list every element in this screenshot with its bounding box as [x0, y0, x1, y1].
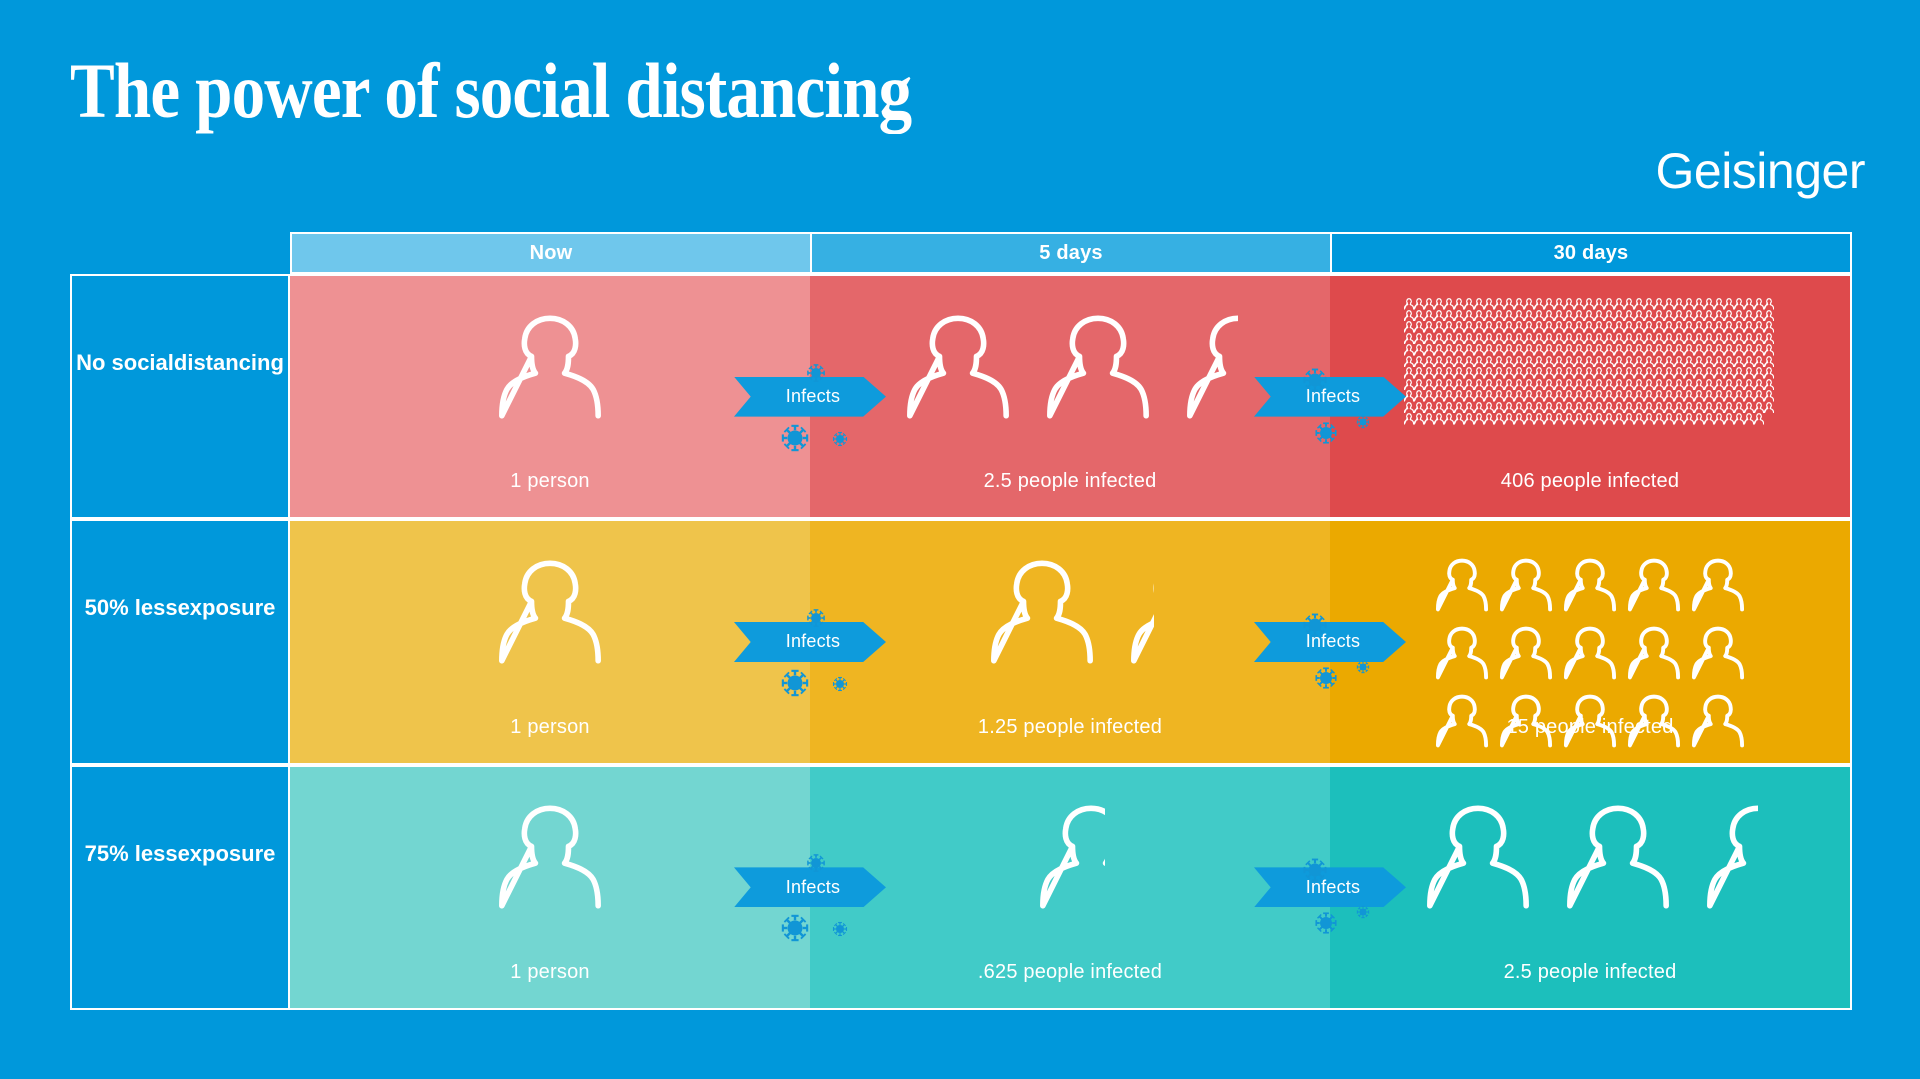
person-icon-tiny — [1544, 390, 1554, 402]
person-figure — [1626, 623, 1682, 683]
person-figure — [1434, 623, 1490, 683]
row-label-line: exposure — [178, 593, 276, 622]
person-icon-tiny — [1604, 367, 1614, 379]
virus-decoration — [832, 431, 848, 452]
person-icon-tiny — [1554, 310, 1564, 322]
person-icon-tiny — [1534, 379, 1544, 391]
person-icon-tiny — [1604, 379, 1614, 391]
person-icon-tiny — [1654, 390, 1664, 402]
person-icon-tiny — [1604, 390, 1614, 402]
person-icon-tiny — [1744, 413, 1754, 425]
person-icon-tiny — [1694, 356, 1704, 368]
person-icon — [1562, 797, 1674, 917]
person-icon-tiny — [1624, 379, 1634, 391]
person-icon-tiny — [1454, 402, 1464, 414]
person-icon-tiny — [1454, 298, 1464, 310]
person-icon-tiny — [1514, 379, 1524, 391]
person-icon-tiny — [1764, 367, 1774, 379]
person-icon-tiny — [1414, 344, 1424, 356]
person-icon-tiny — [1434, 367, 1444, 379]
person-icon-tiny — [1624, 402, 1634, 414]
person-icon-tiny — [1464, 367, 1474, 379]
grid-header-row: Now 5 days 30 days — [290, 232, 1852, 274]
person-icon-tiny — [1714, 310, 1724, 322]
person-icon-tiny — [1534, 367, 1544, 379]
person-icon-tiny — [1584, 344, 1594, 356]
virus-decoration — [1356, 905, 1370, 924]
person-figure — [1498, 623, 1554, 683]
person-icon — [494, 307, 606, 427]
person-icon-tiny — [1424, 367, 1434, 379]
person-icon-tiny — [1454, 379, 1464, 391]
person-icon-tiny — [1704, 310, 1714, 322]
person-icon-tiny — [1544, 333, 1554, 345]
person-icon-tiny — [1464, 356, 1474, 368]
person-icon-tiny — [1674, 344, 1684, 356]
person-icon-tiny — [1564, 298, 1574, 310]
person-icon-tiny — [1504, 379, 1514, 391]
person-icon-tiny — [1434, 344, 1444, 356]
person-icon-tiny — [1624, 390, 1634, 402]
person-icon-tiny — [1604, 402, 1614, 414]
person-icon-tiny — [1754, 344, 1764, 356]
person-icon-tiny — [1714, 413, 1724, 425]
person-icon-tiny — [1744, 379, 1754, 391]
cell-caption: 1.25 people infected — [810, 716, 1330, 739]
person-icon-tiny — [1554, 298, 1564, 310]
cell-caption: 1 person — [290, 470, 810, 493]
virus-icon — [1302, 367, 1328, 393]
person-icon-tiny — [1524, 379, 1534, 391]
row-label-line: distancing — [174, 348, 284, 377]
person-icon-tiny — [1644, 402, 1654, 414]
person-icon-tiny — [1414, 379, 1424, 391]
person-icon-tiny — [1624, 333, 1634, 345]
person-icon-tiny — [1734, 310, 1744, 322]
person-icon-tiny — [1594, 413, 1604, 425]
person-icon-tiny — [1704, 356, 1714, 368]
person-icon-tiny — [1464, 379, 1474, 391]
people-group — [810, 276, 1330, 457]
person-icon-tiny — [1464, 402, 1474, 414]
person-icon-tiny — [1664, 402, 1674, 414]
person-icon — [494, 552, 606, 672]
person-icon-tiny — [1504, 344, 1514, 356]
cell-caption: 1 person — [290, 716, 810, 739]
person-icon-tiny — [1764, 298, 1774, 310]
person-icon-tiny — [1484, 321, 1494, 333]
person-icon-tiny — [1654, 413, 1664, 425]
person-icon-tiny — [1454, 321, 1464, 333]
person-icon-tiny — [1734, 298, 1744, 310]
person-icon-tiny — [1444, 367, 1454, 379]
person-icon-tiny — [1634, 402, 1644, 414]
person-icon-tiny — [1474, 402, 1484, 414]
person-icon-tiny — [1434, 333, 1444, 345]
person-icon-tiny — [1724, 298, 1734, 310]
person-icon-tiny — [1694, 367, 1704, 379]
cell-1-2: 15 people infected — [1330, 521, 1850, 762]
person-icon-tiny — [1554, 413, 1564, 425]
person-icon-tiny — [1724, 333, 1734, 345]
person-icon-tiny — [1694, 333, 1704, 345]
person-icon-tiny — [1734, 379, 1744, 391]
person-icon-tiny — [1444, 356, 1454, 368]
person-icon-tiny — [1594, 379, 1604, 391]
infographic-canvas: The power of social distancing Geisinger… — [0, 0, 1920, 1079]
virus-decoration — [780, 668, 810, 703]
person-icon-tiny — [1684, 298, 1694, 310]
person-icon-tiny — [1454, 390, 1464, 402]
person-icon-tiny — [1444, 333, 1454, 345]
person-icon-tiny — [1654, 402, 1664, 414]
person-icon-tiny — [1644, 333, 1654, 345]
person-figure-partial — [1702, 797, 1758, 917]
virus-icon — [780, 668, 810, 698]
person-icon-tiny — [1434, 310, 1444, 322]
person-icon-tiny — [1624, 367, 1634, 379]
virus-icon — [832, 676, 848, 692]
person-icon-tiny — [1654, 356, 1664, 368]
person-icon-tiny — [1494, 390, 1504, 402]
person-icon-tiny — [1514, 298, 1524, 310]
person-icon-tiny — [1534, 413, 1544, 425]
person-icon-tiny — [1634, 413, 1644, 425]
person-icon-tiny — [1564, 402, 1574, 414]
person-icon-tiny — [1734, 402, 1744, 414]
person-icon-tiny — [1434, 402, 1444, 414]
person-icon — [1702, 797, 1758, 917]
person-icon-tiny — [1674, 413, 1684, 425]
person-icon-tiny — [1724, 356, 1734, 368]
person-icon-tiny — [1604, 413, 1614, 425]
virus-icon — [1356, 905, 1370, 919]
person-figure — [1562, 623, 1618, 683]
person-icon-tiny — [1564, 356, 1574, 368]
scenario-row: 75% lessexposure 1 person .625 people in… — [70, 765, 1852, 1010]
person-icon-tiny — [1614, 402, 1624, 414]
person-icon-tiny — [1434, 413, 1444, 425]
column-header-30-days: 30 days — [1330, 232, 1852, 274]
person-icon-tiny — [1574, 390, 1584, 402]
person-icon-tiny — [1674, 333, 1684, 345]
person-icon-tiny — [1584, 310, 1594, 322]
person-icon-tiny — [1484, 413, 1494, 425]
person-icon — [1035, 797, 1105, 917]
person-icon-tiny — [1524, 321, 1534, 333]
person-icon-tiny — [1664, 356, 1674, 368]
person-icon-tiny — [1554, 367, 1564, 379]
person-icon-tiny — [1524, 310, 1534, 322]
person-icon-tiny — [1764, 310, 1774, 322]
person-icon-tiny — [1584, 321, 1594, 333]
person-icon-tiny — [1544, 321, 1554, 333]
person-icon-tiny — [1654, 321, 1664, 333]
person-icon-tiny — [1654, 367, 1664, 379]
arrow-label: Infects — [1254, 867, 1406, 907]
person-icon-tiny — [1554, 402, 1564, 414]
person-icon-tiny — [1744, 402, 1754, 414]
cell-0-2: 406 people infected — [1330, 276, 1850, 517]
person-icon-tiny — [1624, 321, 1634, 333]
cell-caption: 1 person — [290, 961, 810, 984]
person-icon-tiny — [1744, 310, 1754, 322]
person-icon-tiny — [1654, 333, 1664, 345]
person-icon-tiny — [1524, 390, 1534, 402]
person-icon-tiny — [1464, 298, 1474, 310]
virus-icon — [806, 363, 826, 383]
person-icon-tiny — [1684, 379, 1694, 391]
person-icon-tiny — [1684, 310, 1694, 322]
person-icon-tiny — [1434, 356, 1444, 368]
person-icon-tiny — [1424, 390, 1434, 402]
person-icon-tiny — [1614, 413, 1624, 425]
person-figure — [1422, 797, 1534, 917]
comparison-grid: Now 5 days 30 days No socialdistancing 1… — [70, 232, 1852, 1010]
person-icon-tiny — [1544, 356, 1554, 368]
person-icon-tiny — [1534, 402, 1544, 414]
people-group — [290, 521, 810, 702]
person-icon-tiny — [1684, 390, 1694, 402]
person-figure — [1562, 797, 1674, 917]
person-icon-tiny — [1724, 367, 1734, 379]
cell-caption: 2.5 people infected — [810, 470, 1330, 493]
person-icon-tiny — [1764, 321, 1774, 333]
person-icon-tiny — [1504, 321, 1514, 333]
person-icon-tiny — [1554, 321, 1564, 333]
person-icon-tiny — [1404, 356, 1414, 368]
person-icon-tiny — [1504, 402, 1514, 414]
person-icon-tiny — [1424, 298, 1434, 310]
person-icon-tiny — [1494, 344, 1504, 356]
person-icon-tiny — [1754, 356, 1764, 368]
person-icon-tiny — [1624, 356, 1634, 368]
person-icon-tiny — [1464, 310, 1474, 322]
person-icon-tiny — [1664, 379, 1674, 391]
person-icon-tiny — [1694, 379, 1704, 391]
person-icon-tiny — [1704, 402, 1714, 414]
person-icon-tiny — [1724, 379, 1734, 391]
person-icon-tiny — [1714, 402, 1724, 414]
person-icon-tiny — [1674, 356, 1684, 368]
person-icon-tiny — [1574, 379, 1584, 391]
person-icon-tiny — [1574, 402, 1584, 414]
infects-arrow-2: Infects — [1254, 867, 1406, 907]
person-icon-tiny — [1454, 367, 1464, 379]
person-icon-tiny — [1494, 379, 1504, 391]
person-icon-tiny — [1704, 298, 1714, 310]
brand-logo: Geisinger — [1656, 145, 1866, 197]
person-icon-tiny — [1434, 379, 1444, 391]
person-icon-tiny — [1544, 413, 1554, 425]
person-icon-tiny — [1624, 413, 1634, 425]
person-icon-tiny — [1694, 390, 1704, 402]
person-icon-tiny — [1454, 413, 1464, 425]
virus-decoration — [780, 913, 810, 948]
person-icon-tiny — [1494, 298, 1504, 310]
person-icon-tiny — [1514, 390, 1524, 402]
person-figure — [902, 307, 1014, 427]
person-icon-tiny — [1524, 367, 1534, 379]
person-icon-tiny — [1414, 402, 1424, 414]
person-icon-tiny — [1694, 321, 1704, 333]
virus-icon — [832, 921, 848, 937]
person-icon-tiny — [1744, 321, 1754, 333]
person-icon-tiny — [1744, 356, 1754, 368]
person-icon-tiny — [1554, 379, 1564, 391]
person-figure — [986, 552, 1098, 672]
person-icon-tiny — [1494, 402, 1504, 414]
person-icon-tiny — [1754, 298, 1764, 310]
person-icon-tiny — [1714, 321, 1724, 333]
person-icon-tiny — [1714, 344, 1724, 356]
person-icon-tiny — [1694, 413, 1704, 425]
person-icon-tiny — [1584, 333, 1594, 345]
cell-1-1: 1.25 people infected — [810, 521, 1330, 762]
person-icon-tiny — [1754, 402, 1764, 414]
person-icon-tiny — [1494, 321, 1504, 333]
person-icon-tiny — [1484, 344, 1494, 356]
person-icon-tiny — [1544, 367, 1554, 379]
virus-decoration — [780, 423, 810, 458]
person-icon-tiny — [1544, 310, 1554, 322]
person-icon-tiny — [1664, 344, 1674, 356]
person-icon-tiny — [1424, 310, 1434, 322]
row-label-line: 50% less — [85, 593, 178, 622]
person-icon-tiny — [1604, 356, 1614, 368]
person-icon-tiny — [1524, 402, 1534, 414]
person-icon — [1422, 797, 1534, 917]
virus-icon — [1302, 612, 1328, 638]
person-icon-tiny — [1574, 367, 1584, 379]
person-icon-tiny — [1444, 310, 1454, 322]
person-icon-tiny — [1594, 367, 1604, 379]
person-icon-tiny — [1484, 367, 1494, 379]
person-icon-tiny — [1604, 333, 1614, 345]
row-label-1: 50% lessexposure — [70, 519, 290, 764]
person-icon-tiny — [1534, 321, 1544, 333]
infects-arrow-2: Infects — [1254, 622, 1406, 662]
person-icon-tiny — [1754, 367, 1764, 379]
person-icon-tiny — [1704, 344, 1714, 356]
person-icon-tiny — [1474, 321, 1484, 333]
person-icon-tiny — [1414, 390, 1424, 402]
virus-icon — [780, 913, 810, 943]
person-icon-tiny — [1644, 413, 1654, 425]
arrow-label: Infects — [1254, 622, 1406, 662]
person-icon-tiny — [1614, 310, 1624, 322]
person-icon-tiny — [1414, 333, 1424, 345]
row-body: 1 person 1.25 people infected — [288, 519, 1852, 764]
person-icon-tiny — [1444, 390, 1454, 402]
person-icon-tiny — [1644, 344, 1654, 356]
person-icon-tiny — [1644, 390, 1654, 402]
person-icon-tiny — [1764, 379, 1774, 391]
virus-decoration — [1314, 421, 1338, 450]
person-icon-tiny — [1634, 390, 1644, 402]
people-group — [810, 767, 1330, 948]
person-icon-tiny — [1524, 356, 1534, 368]
person-icon-tiny — [1544, 298, 1554, 310]
person-icon-tiny — [1534, 310, 1544, 322]
virus-decoration — [832, 676, 848, 697]
person-icon-tiny — [1514, 356, 1524, 368]
virus-decoration — [1302, 857, 1328, 888]
person-icon-tiny — [1474, 298, 1484, 310]
person-icon-tiny — [1424, 402, 1434, 414]
person-icon — [1434, 555, 1490, 615]
person-icon-tiny — [1664, 390, 1674, 402]
virus-decoration — [1356, 660, 1370, 679]
people-group — [1330, 767, 1850, 948]
person-icon — [494, 797, 606, 917]
person-icon-tiny — [1604, 298, 1614, 310]
virus-decoration — [1314, 911, 1338, 940]
person-figure — [1690, 555, 1746, 615]
person-icon-tiny — [1734, 333, 1744, 345]
person-icon-tiny — [1494, 367, 1504, 379]
person-icon-tiny — [1564, 413, 1574, 425]
person-icon-tiny — [1504, 356, 1514, 368]
person-icon-tiny — [1664, 367, 1674, 379]
person-icon-tiny — [1554, 344, 1564, 356]
person-icon-tiny — [1564, 390, 1574, 402]
person-icon-tiny — [1734, 413, 1744, 425]
person-icon-tiny — [1554, 390, 1564, 402]
person-icon-tiny — [1624, 298, 1634, 310]
person-icon-tiny — [1494, 413, 1504, 425]
virus-decoration — [1302, 612, 1328, 643]
cell-caption: 15 people infected — [1330, 716, 1850, 739]
person-icon-tiny — [1724, 344, 1734, 356]
person-icon-tiny — [1664, 333, 1674, 345]
person-icon-tiny — [1464, 333, 1474, 345]
person-icon-tiny — [1464, 390, 1474, 402]
person-icon-tiny — [1424, 321, 1434, 333]
person-icon-tiny — [1624, 310, 1634, 322]
person-icon — [986, 552, 1098, 672]
person-figure — [1434, 555, 1490, 615]
person-icon-tiny — [1744, 333, 1754, 345]
person-icon-tiny — [1464, 413, 1474, 425]
person-icon-tiny — [1644, 367, 1654, 379]
person-icon-tiny — [1444, 379, 1454, 391]
person-icon-tiny — [1484, 379, 1494, 391]
person-icon-tiny — [1474, 390, 1484, 402]
person-icon-tiny — [1614, 379, 1624, 391]
person-figure — [1626, 555, 1682, 615]
person-icon-tiny — [1564, 379, 1574, 391]
person-icon-tiny — [1484, 310, 1494, 322]
row-label-line: 75% less — [85, 839, 178, 868]
person-icon-tiny — [1724, 310, 1734, 322]
person-icon-tiny — [1754, 390, 1764, 402]
person-icon-tiny — [1724, 413, 1734, 425]
person-icon-tiny — [1584, 413, 1594, 425]
virus-icon — [780, 423, 810, 453]
person-icon-tiny — [1624, 344, 1634, 356]
person-icon-tiny — [1464, 321, 1474, 333]
person-icon-tiny — [1694, 298, 1704, 310]
person-icon-tiny — [1544, 344, 1554, 356]
person-icon-tiny — [1514, 413, 1524, 425]
person-icon-tiny — [1414, 298, 1424, 310]
person-icon-tiny — [1504, 310, 1514, 322]
virus-decoration — [806, 608, 826, 633]
row-body: 1 person .625 people infected 2.5 people… — [288, 765, 1852, 1010]
infects-arrow-2: Infects — [1254, 377, 1406, 417]
person-icon — [1498, 623, 1554, 683]
